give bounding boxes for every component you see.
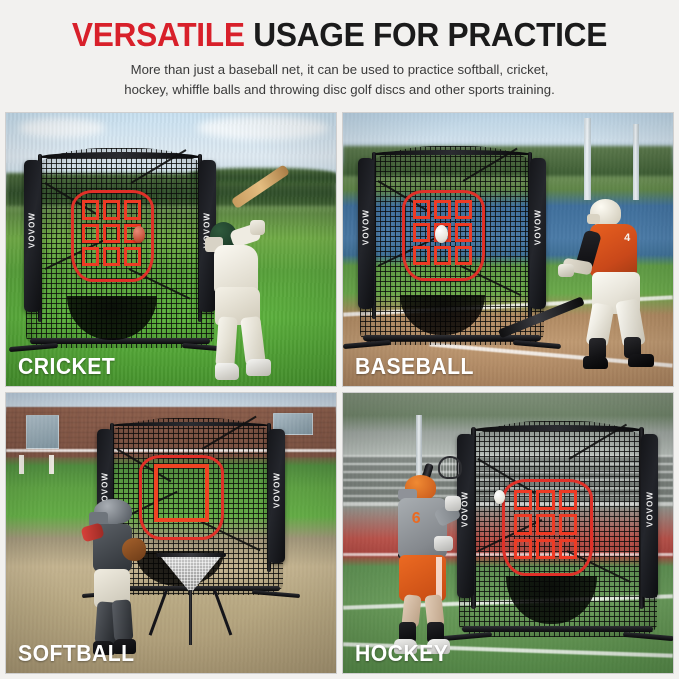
page-title: VERSATILE USAGE FOR PRACTICE	[31, 18, 648, 51]
practice-net-hockey: VOVOW VOVOW	[459, 421, 657, 637]
ball-caddy	[155, 553, 228, 645]
catcher-mitt	[122, 538, 146, 561]
page-subtitle-line-2: hockey, whiffle balls and throwing disc …	[18, 80, 661, 100]
brand-logo-text: VOVOW	[28, 212, 37, 248]
target-cell	[559, 490, 577, 510]
target-cell	[536, 490, 554, 510]
cloud-shape	[197, 116, 329, 141]
page-subtitle: More than just a baseball net, it can be…	[18, 60, 661, 101]
target-cell	[559, 539, 577, 559]
target-grid-3x3	[514, 490, 577, 559]
batter-shoe-rear	[215, 363, 238, 380]
batter-cleat-rear	[583, 356, 608, 369]
batter-cleat-front	[628, 354, 654, 367]
light-post	[584, 118, 591, 200]
caddy-rim	[156, 553, 226, 558]
target-cell	[124, 200, 141, 219]
panel-cricket[interactable]: VOVOW VOVOW	[5, 112, 337, 387]
target-cell	[413, 223, 430, 242]
target-cell	[82, 247, 99, 266]
hockey-player: 6	[379, 471, 485, 661]
target-cell	[455, 200, 472, 219]
lacrosse-glove-top	[445, 496, 461, 511]
baseball-batter: 4	[528, 189, 673, 380]
panel-label-softball: SOFTBALL	[18, 640, 135, 667]
leg-pad-rear	[215, 317, 237, 368]
page-subtitle-line-1: More than just a baseball net, it can be…	[18, 60, 661, 80]
target-cell	[413, 200, 430, 219]
target-grid-3x3	[82, 200, 140, 266]
target-cell	[559, 514, 577, 534]
helmet-brim	[587, 214, 600, 224]
panel-hockey[interactable]: VOVOW VOVOW	[342, 392, 674, 674]
target-cell	[514, 514, 532, 534]
panel-label-hockey: HOCKEY	[355, 640, 448, 667]
header: VERSATILE USAGE FOR PRACTICE More than j…	[0, 0, 679, 101]
target-cell	[103, 224, 120, 243]
page-title-highlight: VERSATILE	[72, 16, 245, 53]
practice-net-baseball: VOVOW VOVOW	[360, 146, 545, 345]
net-side-wing-left: VOVOW	[358, 158, 375, 309]
shorts-side-stripe	[436, 557, 441, 599]
net-side-wing-left: VOVOW	[24, 160, 41, 311]
brand-logo-text: VOVOW	[361, 209, 370, 245]
target-cell	[434, 246, 451, 265]
target-cell	[514, 539, 532, 559]
brand-logo-text: VOVOW	[645, 491, 654, 527]
sport-panel-grid: VOVOW VOVOW	[5, 112, 674, 674]
target-square	[154, 464, 209, 522]
panel-label-cricket: CRICKET	[18, 353, 115, 380]
target-cell	[434, 200, 451, 219]
target-cell	[413, 246, 430, 265]
target-cell	[514, 490, 532, 510]
target-cell	[124, 247, 141, 266]
target-cell	[82, 200, 99, 219]
page-title-rest: USAGE FOR PRACTICE	[253, 16, 607, 53]
practice-net-cricket: VOVOW VOVOW	[26, 148, 214, 347]
panel-label-baseball: BASEBALL	[355, 353, 474, 380]
target-cell	[455, 223, 472, 242]
field-marker-post	[49, 455, 54, 475]
cloud-shape	[19, 118, 105, 137]
field-marker-post	[19, 455, 24, 475]
net-side-wing-right: VOVOW	[268, 429, 285, 563]
softball-catcher	[69, 499, 155, 661]
batting-glove	[250, 220, 265, 235]
product-feature-graphic: VERSATILE USAGE FOR PRACTICE More than j…	[0, 0, 679, 679]
building-window	[26, 415, 59, 449]
panel-softball[interactable]: VOVOW VOVOW	[5, 392, 337, 674]
net-side-wing-right: VOVOW	[641, 434, 659, 598]
lacrosse-stick-head	[438, 456, 461, 479]
brand-logo-text: VOVOW	[272, 472, 281, 508]
target-cell	[82, 224, 99, 243]
target-cell	[103, 200, 120, 219]
panel-baseball[interactable]: VOVOW VOVOW	[342, 112, 674, 387]
target-cell	[536, 514, 554, 534]
shin-guard-front	[112, 599, 134, 641]
cricket-batter	[191, 195, 336, 386]
target-cell	[455, 246, 472, 265]
batting-glove	[558, 264, 574, 277]
target-cell	[536, 539, 554, 559]
lacrosse-ball	[494, 490, 505, 504]
batter-shoe-front	[246, 359, 271, 376]
caddy-basket	[157, 553, 224, 594]
jersey-number: 6	[405, 509, 428, 547]
caddy-leg-center	[189, 590, 192, 645]
lacrosse-glove-bottom	[434, 536, 453, 551]
target-cell	[103, 247, 120, 266]
jersey-number: 4	[618, 230, 637, 262]
